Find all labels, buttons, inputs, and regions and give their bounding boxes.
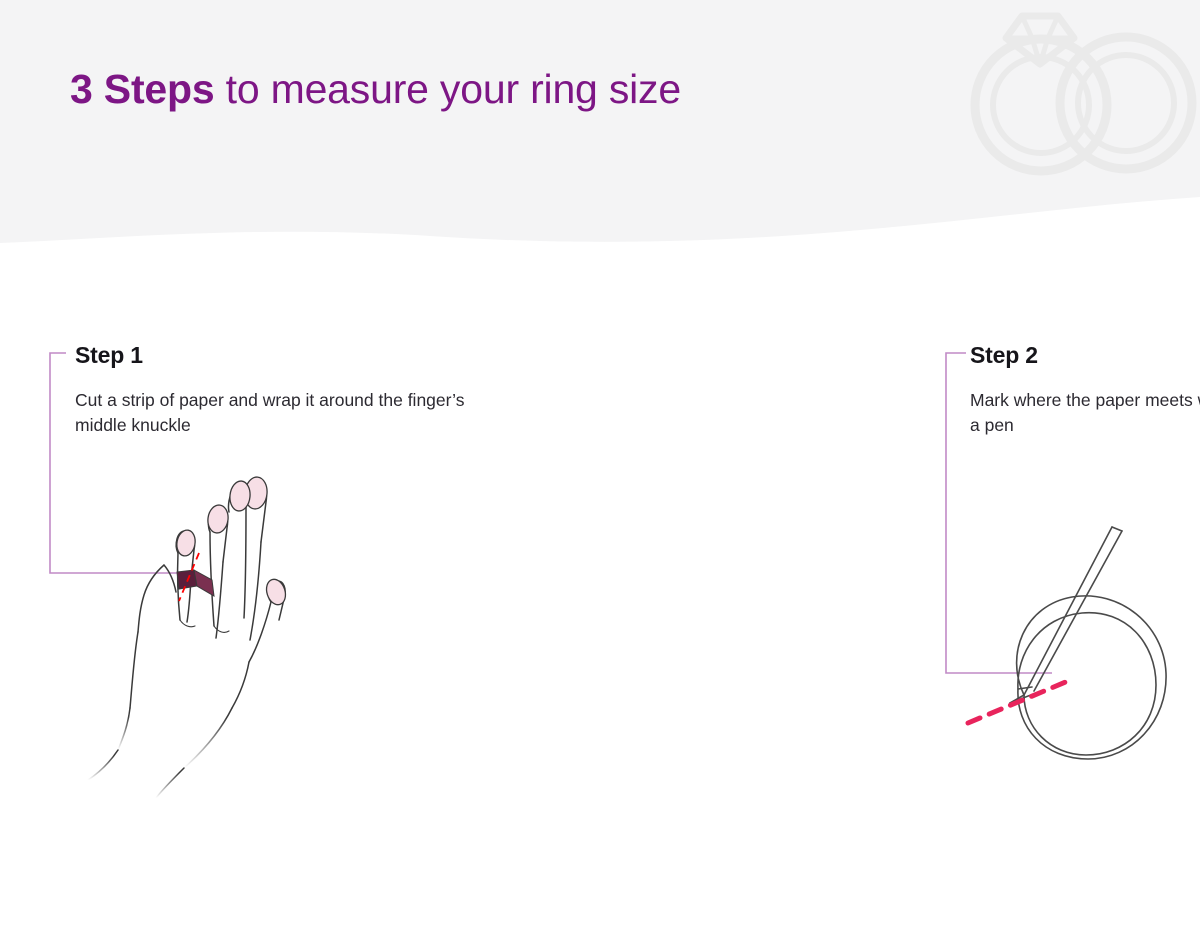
hand-illustration [60,450,400,810]
page-title-rest: to measure your ring size [214,66,681,112]
page-header: 3 Steps to measure your ring size [0,0,1200,270]
step-1-title: Step 1 [75,342,143,369]
coiled-paper-illustration [960,505,1200,790]
page-title-bold: 3 Steps [70,66,214,112]
step-1-body: Cut a strip of paper and wrap it around … [75,388,475,438]
step-2-title: Step 2 [970,342,1038,369]
header-background-shape [0,0,1200,270]
page-title: 3 Steps to measure your ring size [70,66,681,113]
step-2-body: Mark where the paper meets with a pen [970,388,1200,438]
